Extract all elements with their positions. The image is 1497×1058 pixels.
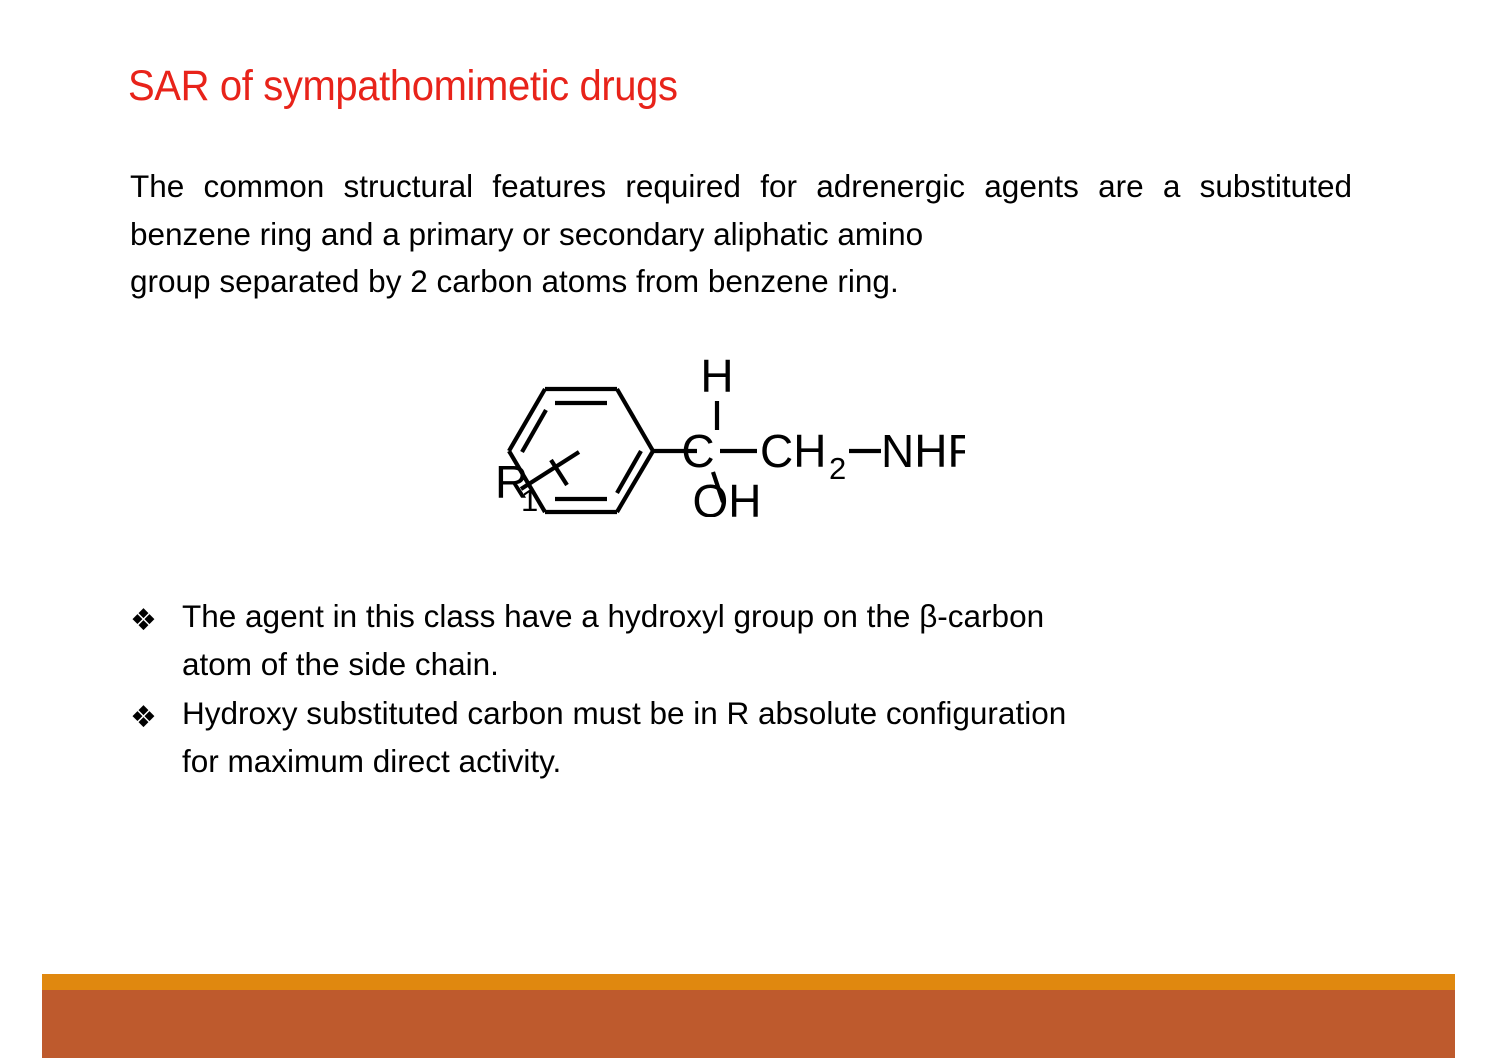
hydroxyl-label: OH (693, 475, 762, 517)
bullet-1-line-2: atom of the side chain. (182, 641, 1328, 689)
hydrogen-label: H (700, 352, 733, 402)
bullet-2-line-1: Hydroxy substituted carbon must be in R … (182, 695, 1066, 731)
slide-canvas: SAR of sympathomimetic drugs The common … (0, 0, 1497, 1058)
methylene-label: CH (760, 425, 826, 477)
bullet-item-2-text: Hydroxy substituted carbon must be in R … (182, 690, 1328, 785)
diamond-bullet-icon: ❖ (130, 597, 157, 644)
footer-decoration (42, 974, 1455, 1058)
methylene-subscript: 2 (829, 451, 846, 486)
bullet-item-1-text: The agent in this class have a hydroxyl … (182, 593, 1328, 688)
intro-line-3: group separated by 2 carbon atoms from b… (130, 258, 1352, 306)
bullet-1-line-1: The agent in this class have a hydroxyl … (182, 598, 1044, 634)
list-item: ❖ Hydroxy substituted carbon must be in … (130, 690, 1328, 785)
r-group-subscript: 1 (521, 483, 538, 517)
alpha-carbon-label: C (681, 425, 714, 477)
bullet-list: ❖ The agent in this class have a hydroxy… (130, 593, 1328, 787)
diamond-bullet-icon: ❖ (130, 694, 157, 741)
footer-accent-bar-brown (42, 990, 1455, 1058)
amine-label: NHR (881, 425, 965, 477)
intro-line-1: The common structural features required … (130, 168, 1180, 204)
chemical-structure-diagram: R 1 C H OH CH 2 NHR (495, 352, 965, 517)
bullet-2-line-2: for maximum direct activity. (182, 738, 1328, 786)
page-title: SAR of sympathomimetic drugs (128, 60, 1281, 112)
list-item: ❖ The agent in this class have a hydroxy… (130, 593, 1328, 688)
intro-paragraph: The common structural features required … (130, 163, 1352, 306)
footer-accent-bar-orange (42, 974, 1455, 990)
